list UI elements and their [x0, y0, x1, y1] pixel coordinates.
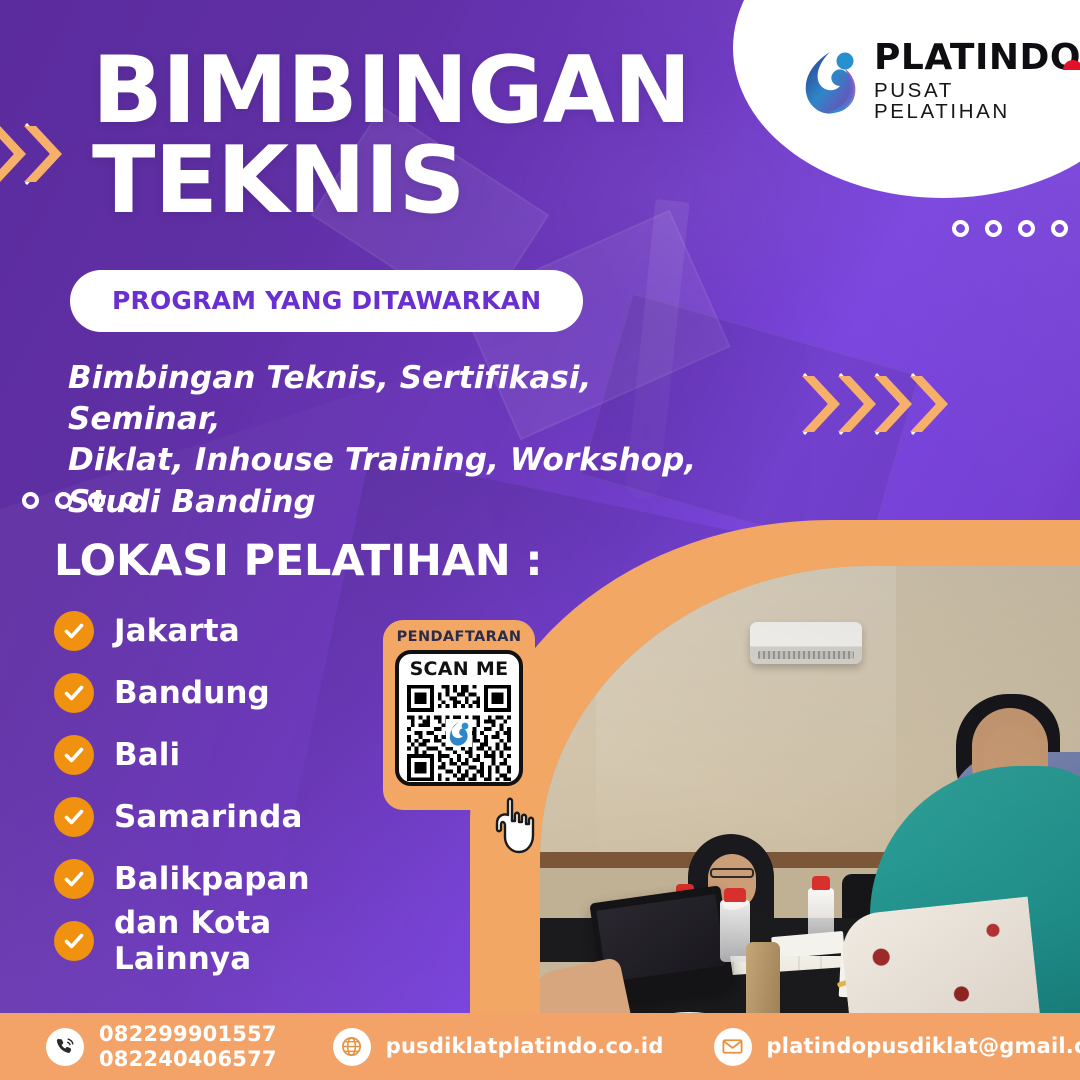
program-line-2: Diklat, Inhouse Training, Workshop, [68, 440, 748, 481]
wave-droplet-icon [800, 46, 862, 116]
poster-canvas: PLATINDO PUSAT PELATIHAN [0, 0, 1080, 1080]
brand-name: PLATINDO [874, 40, 1080, 76]
program-list: Bimbingan Teknis, Sertifikasi, Seminar, … [68, 358, 748, 523]
qr-code-image[interactable] [403, 681, 515, 785]
chevron-group-right [800, 368, 944, 436]
qr-scan-label: SCAN ME [410, 658, 509, 680]
list-item: Samarinda [54, 786, 414, 848]
brand-logo: PLATINDO PUSAT PELATIHAN [800, 40, 1062, 122]
check-circle-icon [54, 797, 94, 837]
pointing-hand-cursor-icon [492, 795, 544, 857]
program-line-1: Bimbingan Teknis, Sertifikasi, Seminar, [68, 358, 748, 440]
chevron-right-icon [908, 368, 954, 436]
qr-card-title: PENDAFTARAN [397, 629, 522, 645]
chevron-group-left [0, 118, 58, 186]
ring-dot-icon [1051, 220, 1068, 237]
phone-number-2: 082240406577 [99, 1047, 277, 1072]
contact-website[interactable]: pusdiklatplatindo.co.id [333, 1028, 664, 1066]
training-photo [540, 566, 1080, 1036]
location-label: Bali [114, 737, 180, 773]
list-item: dan Kota Lainnya [54, 910, 414, 972]
website-url: pusdiklatplatindo.co.id [386, 1034, 664, 1059]
check-circle-icon [54, 673, 94, 713]
ring-dot-icon [952, 220, 969, 237]
location-label: Balikpapan [114, 861, 310, 897]
phone-number-1: 082299901557 [99, 1022, 277, 1047]
location-label: dan Kota Lainnya [114, 905, 414, 977]
ring-dot-icon [1018, 220, 1035, 237]
locations-list: Jakarta Bandung Bali Samarinda Balikpapa… [54, 600, 414, 972]
contact-footer-bar: 082299901557 082240406577 pusdiklatplati… [0, 1013, 1080, 1080]
check-circle-icon [54, 921, 94, 961]
envelope-icon [714, 1028, 752, 1066]
program-line-3: Studi Banding [68, 482, 748, 523]
headline-line-1: BIMBINGAN [92, 45, 732, 135]
contact-email[interactable]: platindopusdiklat@gmail.com [714, 1028, 1080, 1066]
phone-ring-icon [46, 1028, 84, 1066]
ring-dot-icon [985, 220, 1002, 237]
dot-ring-group-right [952, 220, 1068, 237]
brand-tagline: PUSAT PELATIHAN [874, 81, 1080, 122]
phone-numbers: 082299901557 082240406577 [99, 1022, 277, 1072]
locations-title: LOKASI PELATIHAN : [54, 536, 542, 586]
chevron-right-icon [22, 118, 68, 186]
globe-icon [333, 1028, 371, 1066]
email-address: platindopusdiklat@gmail.com [767, 1034, 1080, 1059]
list-item: Bandung [54, 662, 414, 724]
qr-center-logo-icon [446, 719, 472, 747]
registration-qr-card[interactable]: PENDAFTARAN SCAN ME [383, 620, 535, 810]
contact-phone[interactable]: 082299901557 082240406577 [46, 1022, 277, 1072]
list-item: Balikpapan [54, 848, 414, 910]
check-circle-icon [54, 611, 94, 651]
headline-line-2: TEKNIS [92, 135, 732, 225]
list-item: Bali [54, 724, 414, 786]
program-badge-label: PROGRAM YANG DITAWARKAN [112, 286, 541, 315]
check-circle-icon [54, 859, 94, 899]
location-label: Bandung [114, 675, 270, 711]
check-circle-icon [54, 735, 94, 775]
ring-dot-icon [22, 492, 39, 509]
list-item: Jakarta [54, 600, 414, 662]
qr-frame[interactable]: SCAN ME [395, 650, 523, 786]
poster-headline: BIMBINGAN TEKNIS [92, 45, 732, 225]
program-badge: PROGRAM YANG DITAWARKAN [70, 270, 583, 332]
location-label: Jakarta [114, 613, 240, 649]
photo-shading [540, 566, 1080, 1036]
location-label: Samarinda [114, 799, 302, 835]
